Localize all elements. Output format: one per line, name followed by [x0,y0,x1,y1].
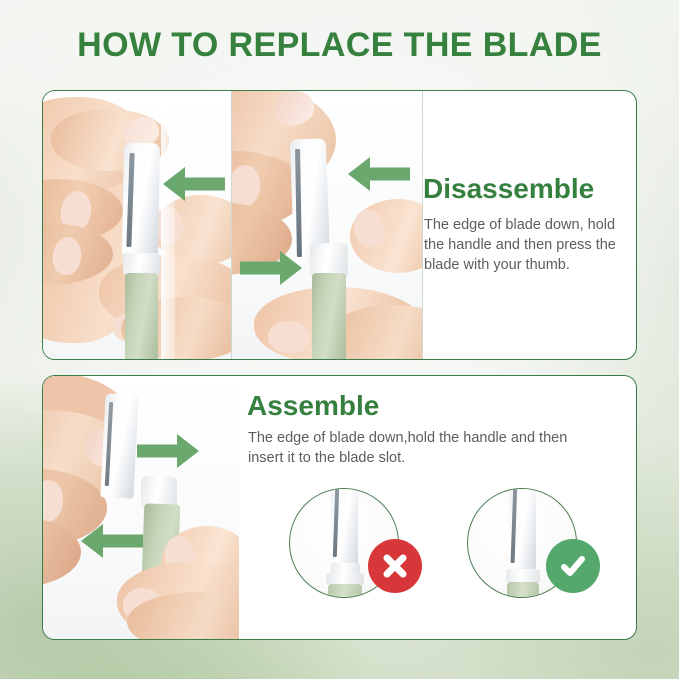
handle-push-arrow-right [240,251,302,285]
cap-insert-arrow-right [137,434,199,468]
body-assemble: The edge of blade down,hold the handle a… [248,428,593,468]
infographic-page: HOW TO REPLACE THE BLADE [0,0,679,679]
photo-two-hands-inserting-blade-into-handle [43,376,239,639]
panel-assemble: Assemble The edge of blade down,hold the… [42,375,637,640]
panel-disassemble: Disassemble The edge of blade down, hold… [42,90,637,360]
handle-insert-arrow-left [81,524,143,558]
blade-collar [310,243,348,277]
tool-handle [125,273,158,359]
heading-assemble: Assemble [247,390,547,422]
tool-handle [312,273,346,359]
badge-incorrect [368,539,422,593]
cap-push-arrow-left [348,157,410,191]
check-icon [557,550,589,582]
badge-correct [546,539,600,593]
photo-hand-holding-tool-thumb-on-blade [43,91,231,359]
body-disassemble: The edge of blade down, hold the handle … [424,215,629,275]
page-title: HOW TO REPLACE THE BLADE [0,26,679,65]
blade-collar [123,253,160,275]
photo-blade-cap-separating-from-handle [232,91,422,359]
press-blade-arrow-left [163,167,225,201]
cross-icon [380,551,410,581]
heading-disassemble: Disassemble [423,173,633,205]
